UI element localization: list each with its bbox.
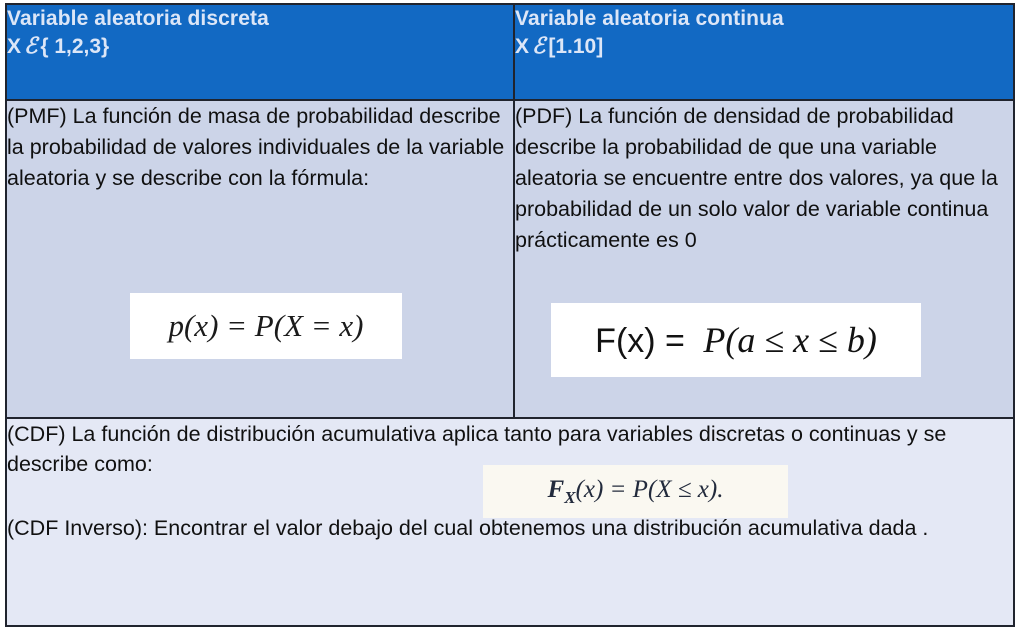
header-title-continuous: Variable aleatoria continua bbox=[515, 5, 1013, 32]
pmf-formula: p(x) = P(X = x) bbox=[168, 308, 363, 344]
pdf-formula-lhs: F(x) = bbox=[595, 322, 694, 360]
pmf-formula-box: p(x) = P(X = x) bbox=[130, 293, 402, 359]
table-header-row: Variable aleatoria discreta Xℰ{ 1,2,3} V… bbox=[6, 4, 1014, 100]
footer-cell-cdf: (CDF) La función de distribución acumula… bbox=[6, 418, 1014, 626]
cdf-formula: FX(x) = P(X ≤ x). bbox=[548, 476, 724, 508]
pdf-formula-rhs: P(a ≤ x ≤ b) bbox=[694, 320, 876, 360]
cdf-formula-box: FX(x) = P(X ≤ x). bbox=[483, 465, 788, 518]
pdf-formula-box: F(x) = P(a ≤ x ≤ b) bbox=[551, 303, 921, 377]
body-cell-pmf: (PMF) La función de masa de probabilidad… bbox=[6, 100, 514, 418]
notation-variable-discrete: X bbox=[7, 35, 21, 58]
pdf-description: (PDF) La función de densidad de probabil… bbox=[515, 101, 1013, 256]
slide-canvas: Variable aleatoria discreta Xℰ{ 1,2,3} V… bbox=[0, 0, 1018, 625]
header-cell-continuous: Variable aleatoria continua Xℰ[1.10] bbox=[514, 4, 1014, 100]
probability-comparison-table: Variable aleatoria discreta Xℰ{ 1,2,3} V… bbox=[5, 3, 1015, 627]
header-cell-discrete: Variable aleatoria discreta Xℰ{ 1,2,3} bbox=[6, 4, 514, 100]
table-footer-row: (CDF) La función de distribución acumula… bbox=[6, 418, 1014, 626]
cdf-formula-f: F bbox=[548, 476, 565, 503]
notation-variable-continuous: X bbox=[515, 35, 529, 58]
cdf-formula-rest: (x) = P(X ≤ x). bbox=[576, 476, 724, 503]
header-notation-continuous: Xℰ[1.10] bbox=[515, 32, 1013, 61]
header-title-discrete: Variable aleatoria discreta bbox=[7, 5, 513, 32]
pdf-formula: F(x) = P(a ≤ x ≤ b) bbox=[595, 319, 877, 361]
notation-set-continuous: [1.10] bbox=[548, 35, 603, 58]
header-notation-discrete: Xℰ{ 1,2,3} bbox=[7, 32, 513, 61]
cdf-formula-subscript: X bbox=[564, 488, 575, 507]
table-body-row: (PMF) La función de masa de probabilidad… bbox=[6, 100, 1014, 418]
pmf-description: (PMF) La función de masa de probabilidad… bbox=[7, 101, 513, 194]
element-of-symbol-continuous: ℰ bbox=[529, 33, 548, 58]
body-cell-pdf: (PDF) La función de densidad de probabil… bbox=[514, 100, 1014, 418]
notation-set-discrete: { 1,2,3} bbox=[40, 35, 109, 58]
element-of-symbol-discrete: ℰ bbox=[21, 33, 40, 58]
